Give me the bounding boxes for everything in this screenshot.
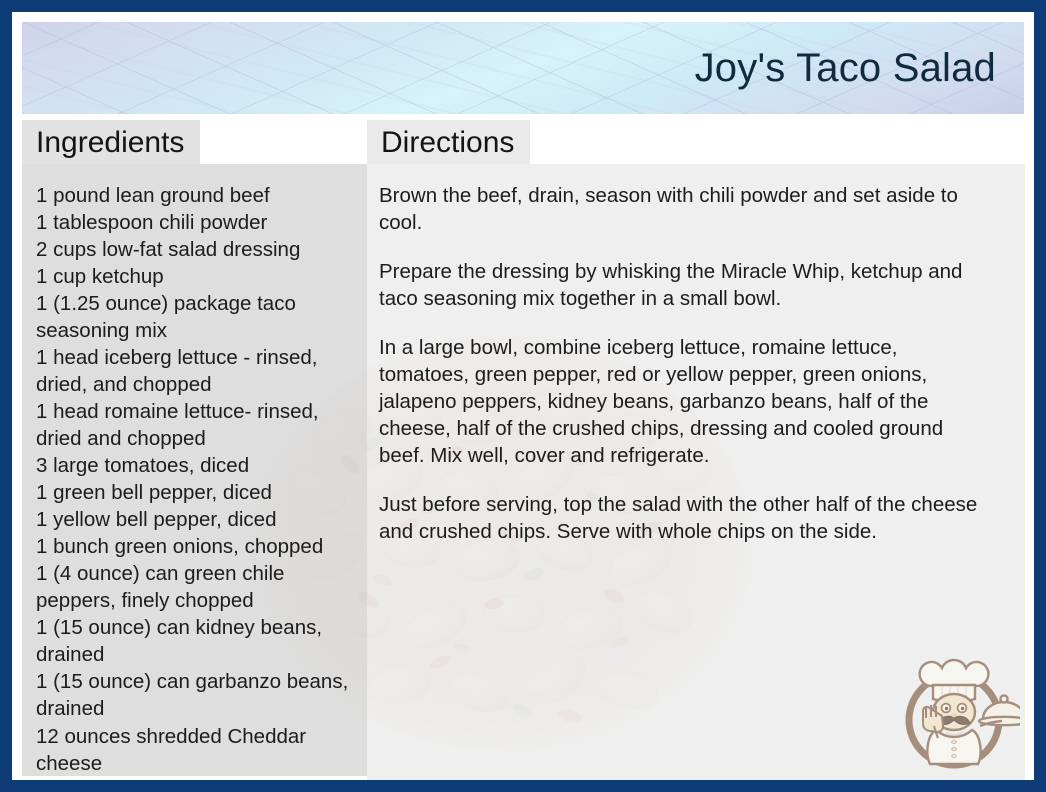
recipe-columns: Ingredients 1 pound lean ground beef 1 t… [12,120,1034,780]
header-banner: Joy's Taco Salad [22,22,1024,114]
ingredients-column: Ingredients 1 pound lean ground beef 1 t… [22,120,367,776]
ingredient-item: 12 ounces shredded Cheddar cheese [36,723,351,777]
ingredient-item: 1 pound lean ground beef [36,182,351,209]
direction-step: Brown the beef, drain, season with chili… [379,182,985,236]
direction-step: Prepare the dressing by whisking the Mir… [379,258,985,312]
recipe-card-frame: Joy's Taco Salad Ingredients 1 pound lea… [0,0,1046,792]
ingredient-item: 1 head iceberg lettuce - rinsed, dried, … [36,344,351,398]
directions-column: Directions Brown the beef, drain, season… [367,120,1025,780]
ingredient-item: 1 bunch green onions, chopped [36,533,351,560]
ingredient-item: 3 large tomatoes, diced [36,452,351,479]
directions-text: Brown the beef, drain, season with chili… [367,164,1025,780]
ingredient-item: 1 tablespoon chili powder [36,209,351,236]
ingredients-list: 1 pound lean ground beef 1 tablespoon ch… [22,164,367,776]
ingredient-item: 1 yellow bell pepper, diced [36,506,351,533]
ingredient-item: 1 (15 ounce) can kidney beans, drained [36,614,351,668]
ingredient-item: 1 green bell pepper, diced [36,479,351,506]
ingredient-item: 1 (15 ounce) can garbanzo beans, drained [36,668,351,722]
ingredients-heading: Ingredients [22,120,200,164]
ingredient-item: 1 (4 ounce) can green chile peppers, fin… [36,560,351,614]
ingredient-item: 2 cups low-fat salad dressing [36,236,351,263]
direction-step: Just before serving, top the salad with … [379,491,985,545]
directions-heading: Directions [367,120,530,164]
direction-step: In a large bowl, combine iceberg lettuce… [379,334,985,469]
ingredient-item: 1 head romaine lettuce- rinsed, dried an… [36,398,351,452]
ingredient-item: 1 (1.25 ounce) package taco seasoning mi… [36,290,351,344]
ingredient-item: 1 cup ketchup [36,263,351,290]
recipe-card-inner: Joy's Taco Salad Ingredients 1 pound lea… [12,12,1034,780]
page-title: Joy's Taco Salad [695,46,1024,91]
